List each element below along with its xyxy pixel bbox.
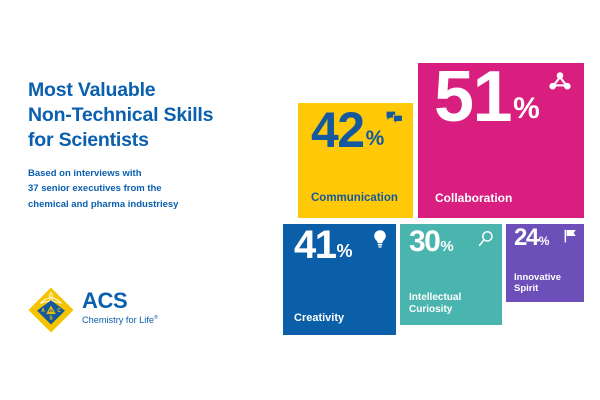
network-nodes-icon [549, 71, 571, 96]
tile-innovative-spirit-value: 24 [514, 228, 538, 249]
tile-intellectual-curiosity-value: 30 [409, 229, 439, 255]
page-title-line-2: Non-Technical Skills [28, 103, 258, 128]
acs-wordmark: ACS Chemistry for Life® [82, 290, 182, 325]
tile-creativity-value: 41 [294, 228, 336, 262]
acs-tagline-registered-mark: ® [154, 315, 158, 321]
tile-intellectual-curiosity-label-line-2: Curiosity [409, 304, 461, 316]
tile-innovative-spirit[interactable]: 24% Innovative Spirit [506, 224, 584, 302]
infographic-root: Most Valuable Non-Technical Skills for S… [0, 0, 600, 400]
acs-diamond-letter-c: C [57, 308, 61, 314]
tile-creativity-label: Creativity [294, 312, 344, 325]
tile-collaboration-label-line-1: Collaboration [435, 191, 512, 205]
tile-creativity-percent-symbol: % [337, 244, 353, 259]
page-title: Most Valuable Non-Technical Skills for S… [28, 78, 258, 153]
tile-intellectual-curiosity-label: Intellectual Curiosity [409, 292, 461, 316]
tile-collaboration-percent-symbol: % [513, 96, 539, 122]
tile-innovative-spirit-percent: 24% [514, 228, 549, 249]
tile-communication-value: 42 [311, 109, 364, 152]
tile-communication-percent-symbol: % [366, 130, 384, 148]
tile-innovative-spirit-label: Innovative Spirit [514, 272, 561, 294]
page-subtitle: Based on interviews with 37 senior execu… [28, 166, 263, 212]
page-subtitle-line-1: Based on interviews with [28, 166, 263, 181]
acs-diamond-logo-icon: A C S [27, 286, 75, 334]
page-title-line-1: Most Valuable [28, 78, 258, 103]
tile-communication-label: Communication [311, 192, 398, 206]
speech-bubbles-icon [386, 111, 403, 130]
acs-tagline: Chemistry for Life® [82, 316, 182, 325]
page-title-line-3: for Scientists [28, 128, 258, 153]
tile-communication[interactable]: 42% Communication [298, 103, 413, 218]
title-panel: Most Valuable Non-Technical Skills for S… [0, 0, 280, 400]
tile-creativity[interactable]: 41% Creativity [283, 224, 396, 335]
tile-creativity-label-line-1: Creativity [294, 312, 344, 325]
lightbulb-icon [373, 229, 387, 254]
page-subtitle-line-3: chemical and pharma industriesy [28, 197, 263, 212]
tile-innovative-spirit-label-line-2: Spirit [514, 283, 561, 294]
tile-collaboration-percent: 51% [434, 67, 539, 129]
tile-innovative-spirit-percent-symbol: % [539, 236, 549, 246]
acs-tagline-text: Chemistry for Life [82, 315, 154, 325]
acs-diamond-letter-a: A [41, 308, 45, 314]
tile-intellectual-curiosity-percent: 30% [409, 229, 453, 255]
tile-creativity-percent: 41% [294, 228, 352, 262]
tile-communication-label-line-1: Communication [311, 192, 398, 206]
tile-communication-percent: 42% [311, 109, 384, 152]
tile-innovative-spirit-label-line-1: Innovative [514, 272, 561, 283]
tile-intellectual-curiosity-label-line-1: Intellectual [409, 292, 461, 304]
tile-collaboration-label: Collaboration [435, 191, 512, 205]
tile-collaboration-value: 51 [434, 67, 511, 129]
tile-collaboration[interactable]: 51% Collaboration [418, 63, 584, 218]
acs-logo: A C S ACS Chemistry for Life® [27, 286, 177, 336]
tile-intellectual-curiosity[interactable]: 30% Intellectual Curiosity [400, 224, 502, 325]
flag-icon [564, 229, 577, 248]
page-subtitle-line-2: 37 senior executives from the [28, 181, 263, 196]
tile-intellectual-curiosity-percent-symbol: % [440, 241, 453, 254]
acs-name: ACS [82, 290, 182, 312]
magnifying-glass-icon [478, 230, 494, 252]
